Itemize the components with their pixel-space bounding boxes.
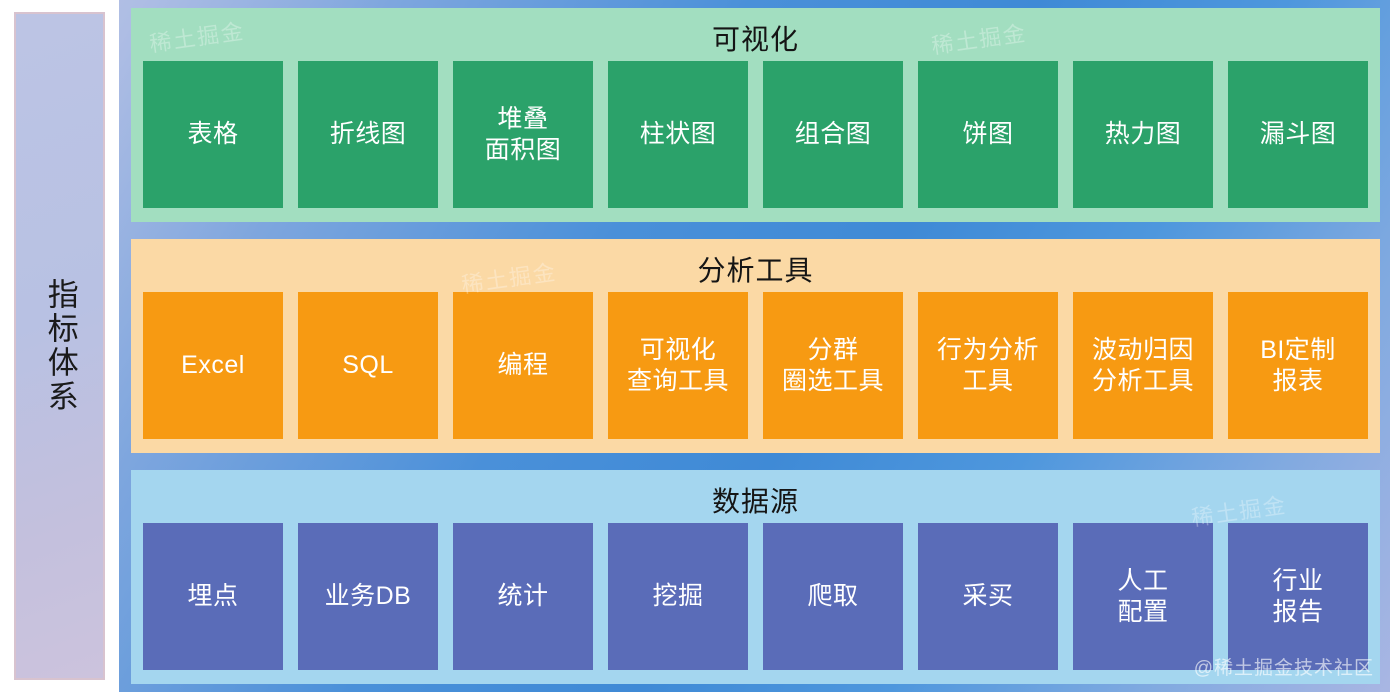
card-bar-chart[interactable]: 柱状图: [608, 61, 748, 208]
layer-cards-datasource: 埋点 业务DB 统计 挖掘 爬取 采买 人工 配置 行业 报告: [143, 523, 1368, 672]
sidebar-box: 指标体系: [14, 12, 105, 680]
card-combo-chart[interactable]: 组合图: [763, 61, 903, 208]
card-excel[interactable]: Excel: [143, 292, 283, 439]
card-manual-config[interactable]: 人工 配置: [1073, 523, 1213, 670]
card-heatmap[interactable]: 热力图: [1073, 61, 1213, 208]
layer-visualization: 稀土掘金 稀土掘金 可视化 表格 折线图 堆叠 面积图 柱状图 组合图 饼图 热…: [131, 8, 1380, 222]
card-cohort-select-tool[interactable]: 分群 圈选工具: [763, 292, 903, 439]
card-line-chart[interactable]: 折线图: [298, 61, 438, 208]
card-data-mining[interactable]: 挖掘: [608, 523, 748, 670]
layer-data-source: 稀土掘金 数据源 埋点 业务DB 统计 挖掘 爬取 采买 人工 配置 行业 报告: [131, 470, 1380, 684]
card-table[interactable]: 表格: [143, 61, 283, 208]
layer-stack: 稀土掘金 稀土掘金 可视化 表格 折线图 堆叠 面积图 柱状图 组合图 饼图 热…: [131, 8, 1380, 684]
card-pie-chart[interactable]: 饼图: [918, 61, 1058, 208]
card-behavior-analysis[interactable]: 行为分析 工具: [918, 292, 1058, 439]
layer-cards-analysis: Excel SQL 编程 可视化 查询工具 分群 圈选工具 行为分析 工具 波动…: [143, 292, 1368, 441]
card-statistics[interactable]: 统计: [453, 523, 593, 670]
layer-title-visualization: 可视化: [143, 16, 1368, 61]
layer-cards-visualization: 表格 折线图 堆叠 面积图 柱状图 组合图 饼图 热力图 漏斗图: [143, 61, 1368, 210]
card-business-db[interactable]: 业务DB: [298, 523, 438, 670]
card-sql[interactable]: SQL: [298, 292, 438, 439]
sidebar-panel: 指标体系: [0, 0, 119, 692]
card-fluctuation-attribution[interactable]: 波动归因 分析工具: [1073, 292, 1213, 439]
card-programming[interactable]: 编程: [453, 292, 593, 439]
card-funnel-chart[interactable]: 漏斗图: [1228, 61, 1368, 208]
card-tracking-point[interactable]: 埋点: [143, 523, 283, 670]
diagram-canvas: 指标体系 稀土掘金 稀土掘金 可视化 表格 折线图 堆叠 面积图 柱状图 组合图…: [0, 0, 1390, 692]
card-bi-custom-report[interactable]: BI定制 报表: [1228, 292, 1368, 439]
layer-title-analysis: 分析工具: [143, 247, 1368, 292]
card-industry-report[interactable]: 行业 报告: [1228, 523, 1368, 670]
layer-title-datasource: 数据源: [143, 478, 1368, 523]
card-purchase[interactable]: 采买: [918, 523, 1058, 670]
layer-analysis-tools: 稀土掘金 分析工具 Excel SQL 编程 可视化 查询工具 分群 圈选工具 …: [131, 239, 1380, 453]
card-crawling[interactable]: 爬取: [763, 523, 903, 670]
card-visual-query-tool[interactable]: 可视化 查询工具: [608, 292, 748, 439]
sidebar-vertical-label: 指标体系: [41, 278, 78, 414]
card-stacked-area[interactable]: 堆叠 面积图: [453, 61, 593, 208]
